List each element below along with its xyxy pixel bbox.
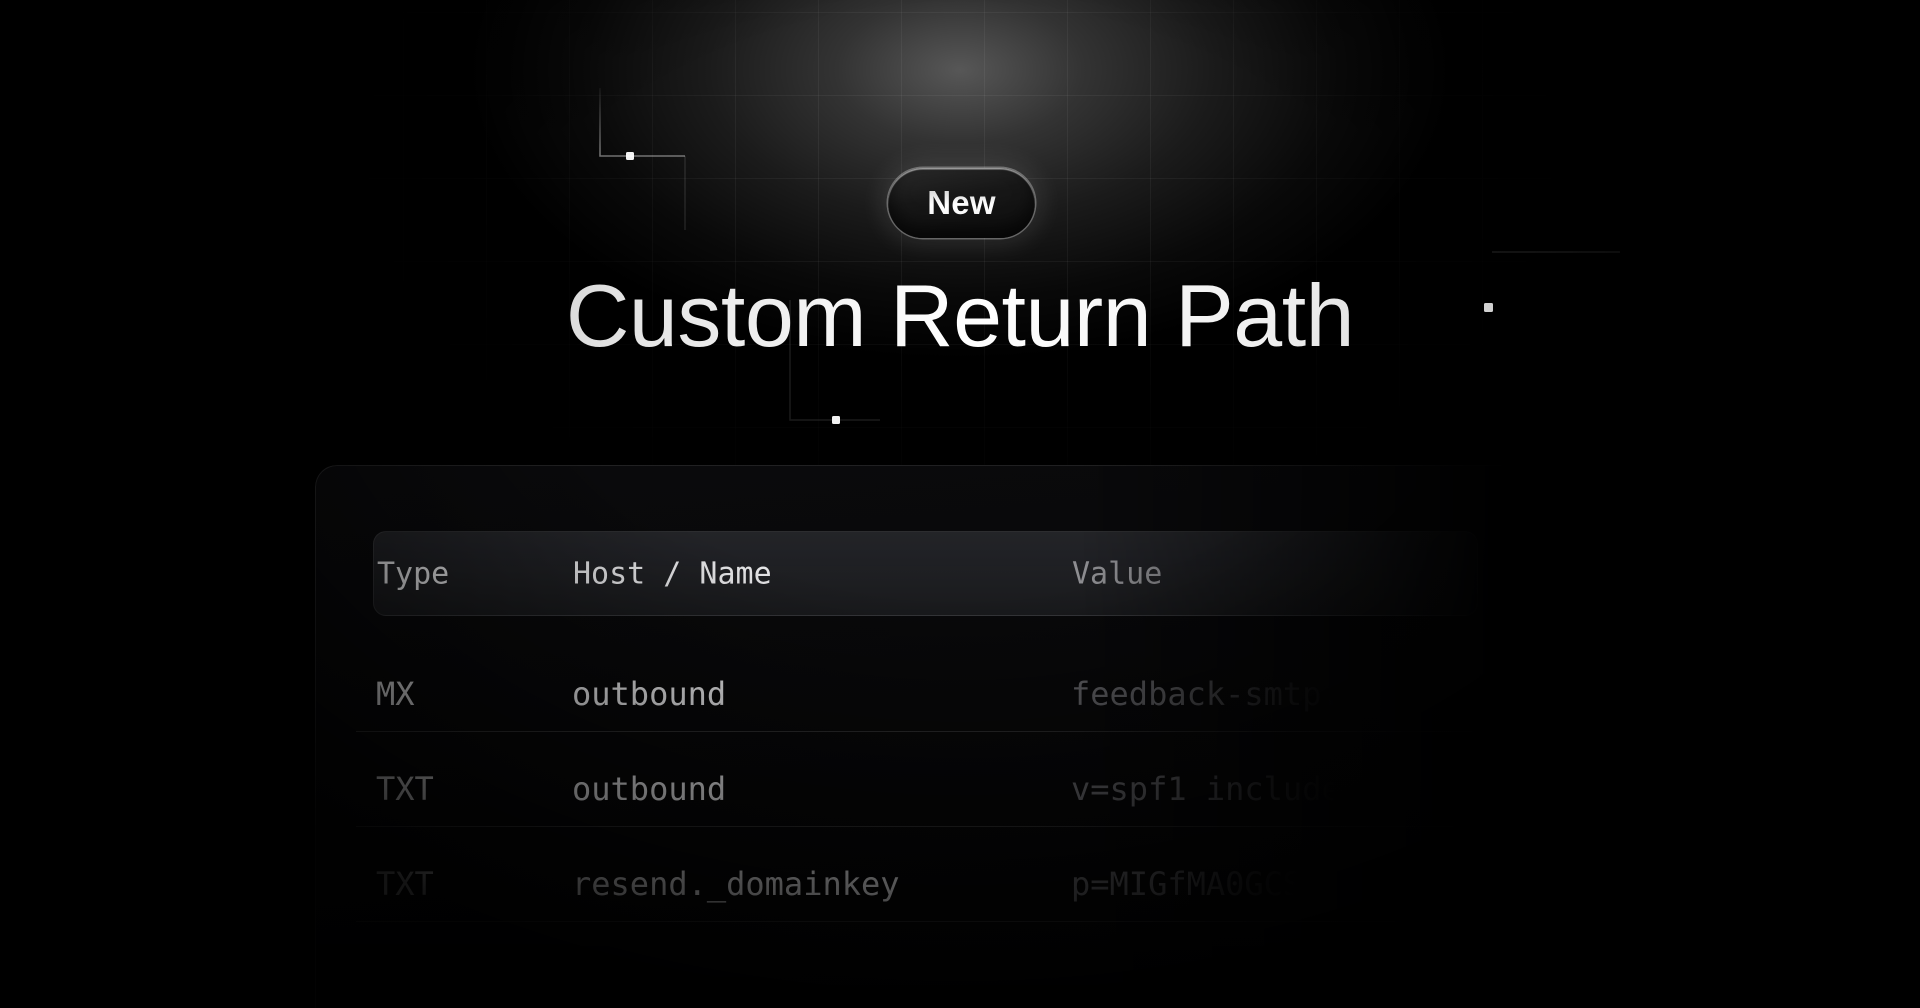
- row-divider: [356, 921, 1516, 922]
- column-header-host: Host / Name: [573, 556, 772, 591]
- table-header-row: Type Host / Name Value: [373, 531, 1478, 616]
- cell-host: outbound: [572, 675, 726, 713]
- new-badge: New: [888, 168, 1035, 238]
- column-header-type: Type: [377, 556, 449, 591]
- row-divider: [356, 731, 1516, 732]
- new-badge-label: New: [927, 184, 995, 222]
- cell-value: feedback-smtp.u: [1071, 675, 1360, 713]
- table-row-trailing: [316, 921, 1545, 961]
- cell-type: MX: [376, 675, 415, 713]
- row-divider: [356, 826, 1516, 827]
- cell-type: TXT: [376, 770, 434, 808]
- dns-records-panel: Type Host / Name Value MX outbound feedb…: [315, 465, 1545, 1008]
- cell-value: p=MIGfMA0GCSq: [1071, 865, 1321, 903]
- cell-type: TXT: [376, 865, 434, 903]
- promo-hero-canvas: New Custom Return Path Type Host / Name …: [0, 0, 1920, 1008]
- cell-host: resend._domainkey: [572, 865, 900, 903]
- page-title: Custom Return Path: [0, 272, 1920, 360]
- cell-host: outbound: [572, 770, 726, 808]
- cell-value: v=spf1 include:: [1071, 770, 1360, 808]
- column-header-value: Value: [1072, 556, 1162, 591]
